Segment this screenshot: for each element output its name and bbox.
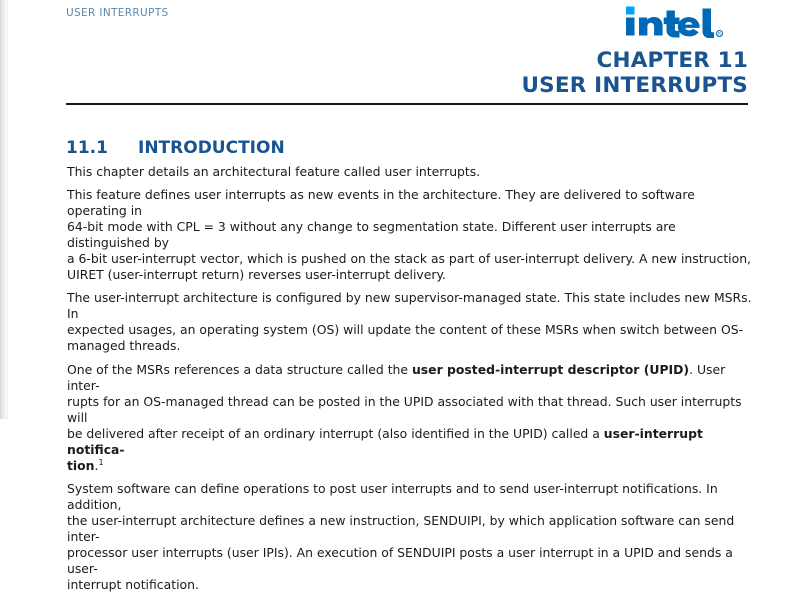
chapter-number-line: CHAPTER 11 xyxy=(522,48,749,73)
section-heading: 11.1INTRODUCTION xyxy=(66,138,285,158)
para-supervisor-state: The user-interrupt architecture is confi… xyxy=(67,290,753,354)
para-upid: One of the MSRs references a data struct… xyxy=(67,362,753,474)
document-page: USER INTERRUPTS R CHAPTER 11 USER INTERR… xyxy=(8,0,800,419)
intel-logo: R xyxy=(624,4,748,38)
section-number: 11.1 xyxy=(66,138,138,158)
para-feature-definition: This feature defines user interrupts as … xyxy=(67,187,753,283)
svg-text:R: R xyxy=(718,31,721,36)
body-copy: This chapter details an architectural fe… xyxy=(67,164,753,593)
footnote-marker: 1 xyxy=(98,458,103,467)
title-divider-rule xyxy=(66,103,748,105)
chapter-title-block: CHAPTER 11 USER INTERRUPTS xyxy=(522,48,749,98)
viewer-left-gutter xyxy=(0,0,8,419)
chapter-name-line: USER INTERRUPTS xyxy=(522,73,749,98)
bold-term: user posted-interrupt descriptor (UPID) xyxy=(412,362,689,377)
running-header: USER INTERRUPTS xyxy=(66,7,169,19)
text-run: One of the MSRs references a data struct… xyxy=(67,362,412,377)
para-senduipi: System software can define operations to… xyxy=(67,481,753,593)
section-title: INTRODUCTION xyxy=(138,138,285,158)
para-intro: This chapter details an architectural fe… xyxy=(67,164,753,180)
